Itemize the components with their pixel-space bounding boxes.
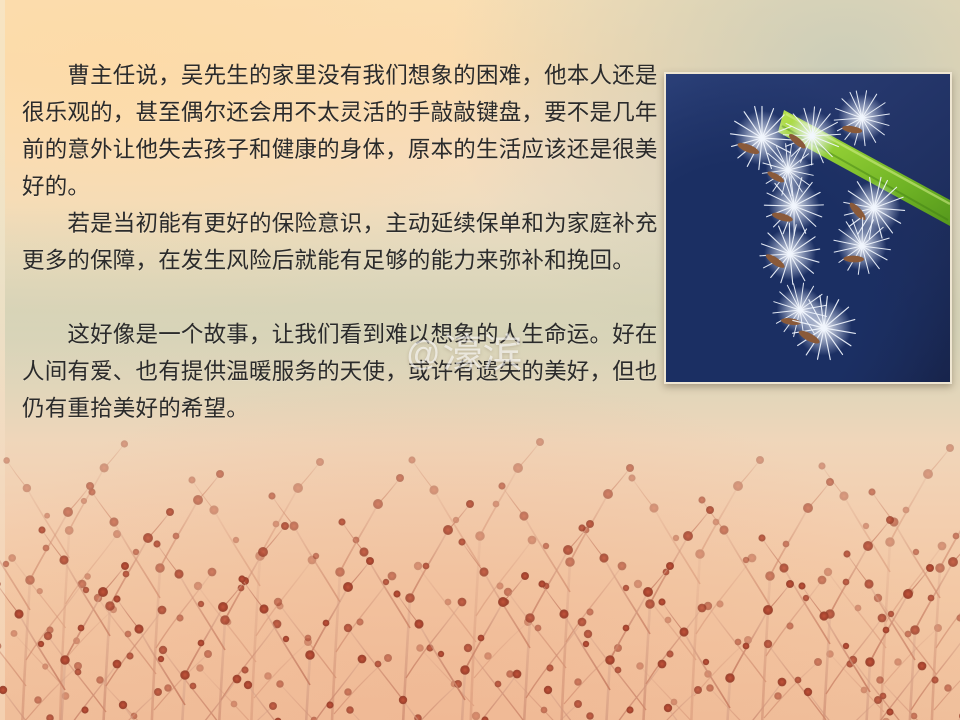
paragraph-2: 若是当初能有更好的保险意识，主动延续保单和为家庭补充更多的保障，在发生风险后就能…	[0, 205, 662, 279]
paragraph-3: 这好像是一个故事，让我们看到难以想象的人生命运。好在人间有爱、也有提供温暖服务的…	[0, 316, 662, 427]
image-canvas: 曹主任说，吴先生的家里没有我们想象的困难，他本人还是很乐观的，甚至偶尔还会用不太…	[0, 0, 960, 720]
inset-photo-frame	[664, 72, 952, 384]
paragraph-1: 曹主任说，吴先生的家里没有我们想象的困难，他本人还是很乐观的，甚至偶尔还会用不太…	[0, 57, 662, 205]
inset-photo-dandelion	[666, 74, 950, 382]
dried-branches	[0, 390, 960, 720]
